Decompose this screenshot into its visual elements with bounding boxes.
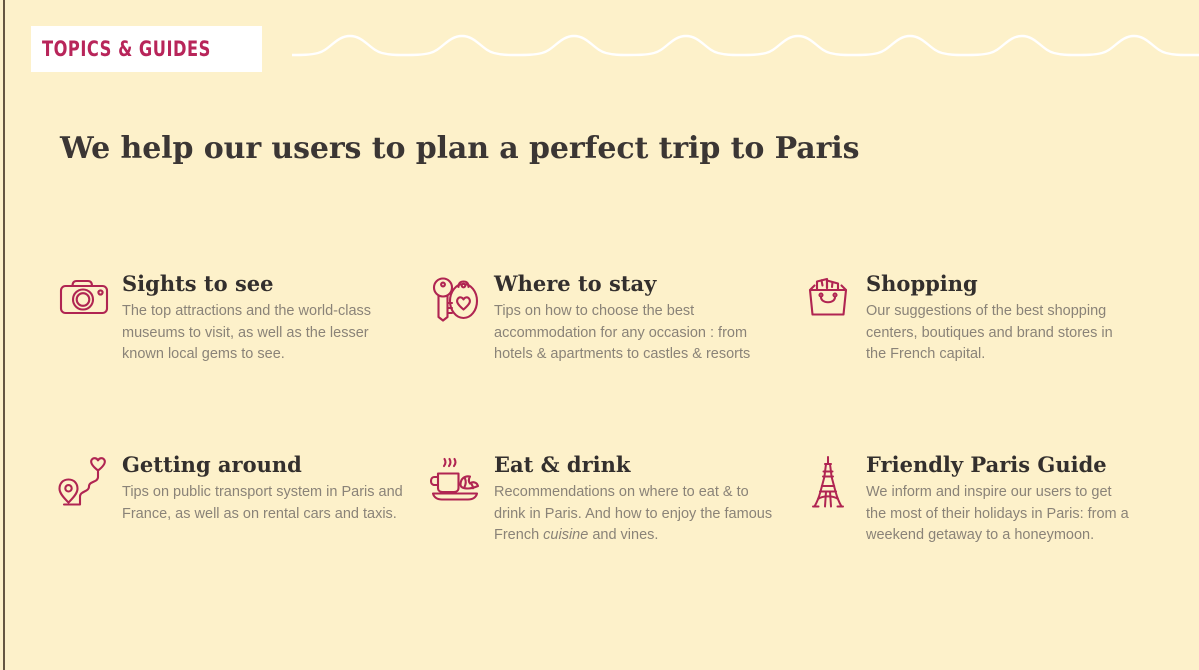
topic-description: We inform and inspire our users to get t… [866, 482, 1130, 547]
topic-description: Tips on public transport system in Paris… [122, 482, 412, 525]
topic-body: Where to stay Tips on how to choose the … [494, 272, 784, 366]
left-edge-rule [3, 0, 5, 670]
topic-title: Getting around [122, 453, 412, 476]
topic-body: Sights to see The top attractions and th… [122, 272, 412, 366]
top-ribbon: TOPICS & GUIDES [0, 0, 1199, 96]
topic-description: Our suggestions of the best shopping cen… [866, 301, 1130, 366]
topic-body: Friendly Paris Guide We inform and inspi… [866, 453, 1130, 547]
topic-grid: Sights to see The top attractions and th… [58, 272, 1148, 547]
topic-body: Shopping Our suggestions of the best sho… [866, 272, 1130, 366]
badge-label: TOPICS & GUIDES [42, 37, 211, 61]
topic-card-shopping[interactable]: Shopping Our suggestions of the best sho… [802, 272, 1148, 453]
topic-card-where-to-stay[interactable]: Where to stay Tips on how to choose the … [430, 272, 802, 453]
topic-body: Getting around Tips on public transport … [122, 453, 412, 525]
eiffel-tower-icon [802, 453, 854, 507]
topic-description: The top attractions and the world-class … [122, 301, 412, 366]
route-pin-heart-icon [58, 453, 110, 507]
topic-title: Sights to see [122, 272, 412, 295]
topic-title: Friendly Paris Guide [866, 453, 1130, 476]
topic-description-emphasis: cuisine [543, 527, 588, 543]
topic-card-friendly-paris-guide[interactable]: Friendly Paris Guide We inform and inspi… [802, 453, 1148, 547]
topic-card-sights-to-see[interactable]: Sights to see The top attractions and th… [58, 272, 430, 453]
topic-title: Where to stay [494, 272, 784, 295]
wave-line-decoration-icon [292, 24, 1199, 68]
topic-description: Recommendations on where to eat & to dri… [494, 482, 784, 547]
topic-description-part2: and vines. [588, 527, 658, 543]
coffee-croissant-icon [430, 453, 482, 507]
topic-title: Shopping [866, 272, 1130, 295]
topic-card-eat-and-drink[interactable]: Eat & drink Recommendations on where to … [430, 453, 802, 547]
topics-and-guides-badge[interactable]: TOPICS & GUIDES [31, 26, 262, 72]
keys-heart-icon [430, 272, 482, 326]
topic-body: Eat & drink Recommendations on where to … [494, 453, 784, 547]
topic-title: Eat & drink [494, 453, 784, 476]
page-title: We help our users to plan a perfect trip… [60, 131, 859, 166]
topic-card-getting-around[interactable]: Getting around Tips on public transport … [58, 453, 430, 547]
camera-icon [58, 272, 110, 326]
topic-description: Tips on how to choose the best accommoda… [494, 301, 784, 366]
shopping-bag-icon [802, 272, 854, 326]
